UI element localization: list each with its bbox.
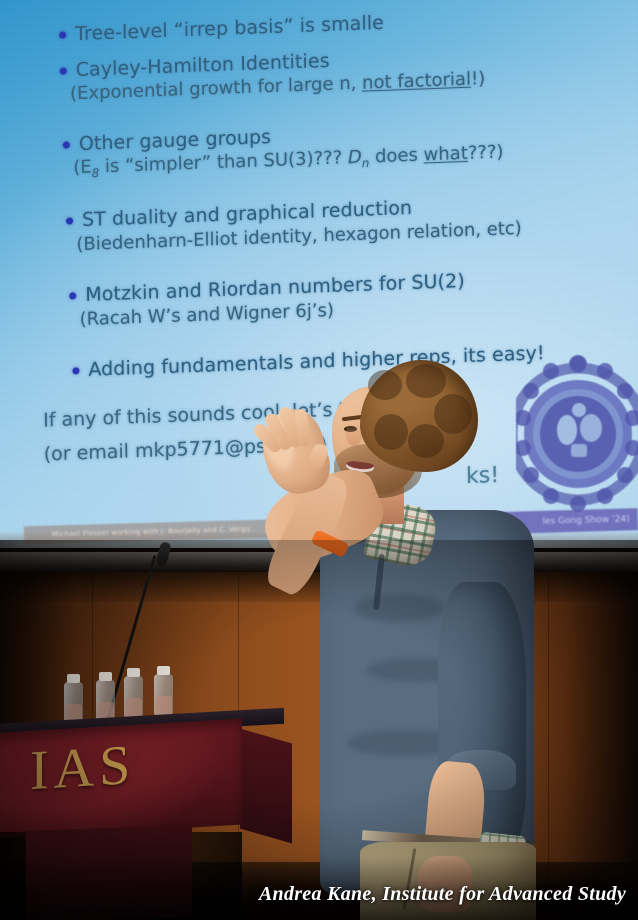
slide-bullet-1: Tree-level “irrep basis” is smalle (59, 11, 384, 48)
bullet-dot-icon (72, 367, 79, 374)
lecture-photograph: Tree-level “irrep basis” is smalle Cayle… (0, 0, 638, 920)
bullet-dot-icon (59, 31, 66, 38)
slide-bullet-1-text: Tree-level “irrep basis” is smalle (75, 11, 384, 47)
bullet-dot-icon (66, 217, 73, 224)
speaker-curly-hair (360, 360, 478, 472)
bullet-dot-icon (60, 67, 67, 74)
bullet-dot-icon (63, 141, 70, 148)
photo-credit-caption: Andrea Kane, Institute for Advanced Stud… (259, 883, 626, 906)
bullet-dot-icon (69, 292, 76, 299)
